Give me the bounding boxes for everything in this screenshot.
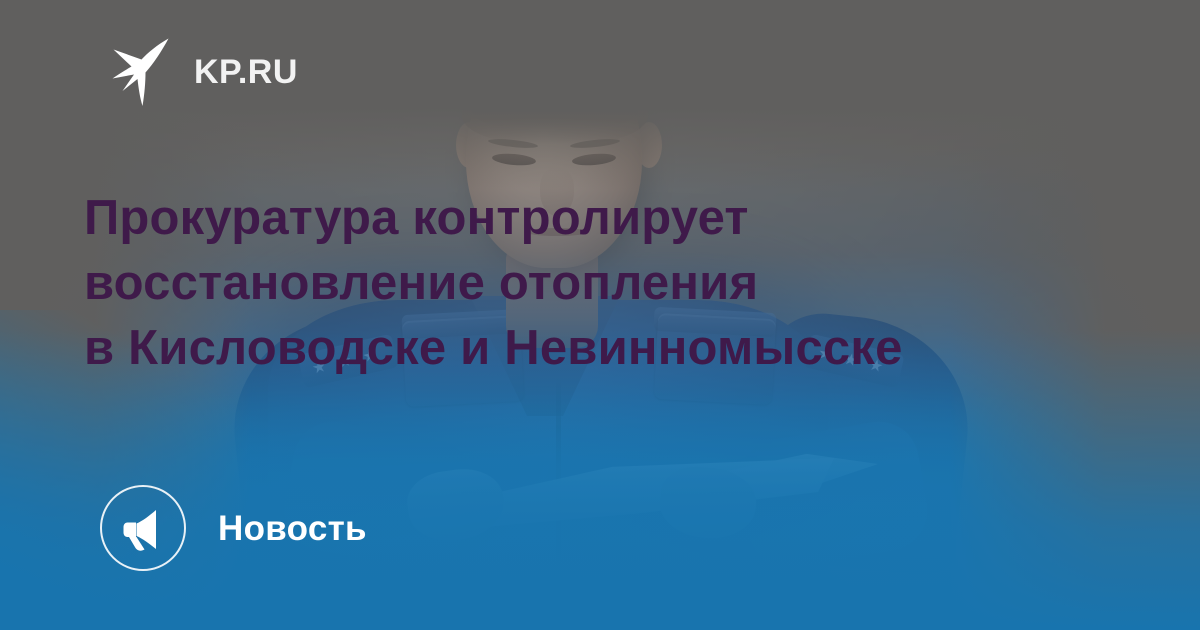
card-content: KP.RU Прокуратура контролирует восстанов… [0, 0, 1200, 630]
swallow-bird-icon [110, 36, 172, 108]
page-title: Прокуратура контролирует восстановление … [84, 186, 1114, 381]
status-badge: Новость [100, 485, 367, 571]
badge-label: Новость [218, 511, 367, 546]
share-card: KP.RU Прокуратура контролирует восстанов… [0, 0, 1200, 630]
badge-icon-ring [100, 485, 186, 571]
megaphone-icon [120, 505, 166, 551]
brand-lockup[interactable]: KP.RU [110, 36, 298, 108]
brand-name: KP.RU [194, 55, 298, 89]
